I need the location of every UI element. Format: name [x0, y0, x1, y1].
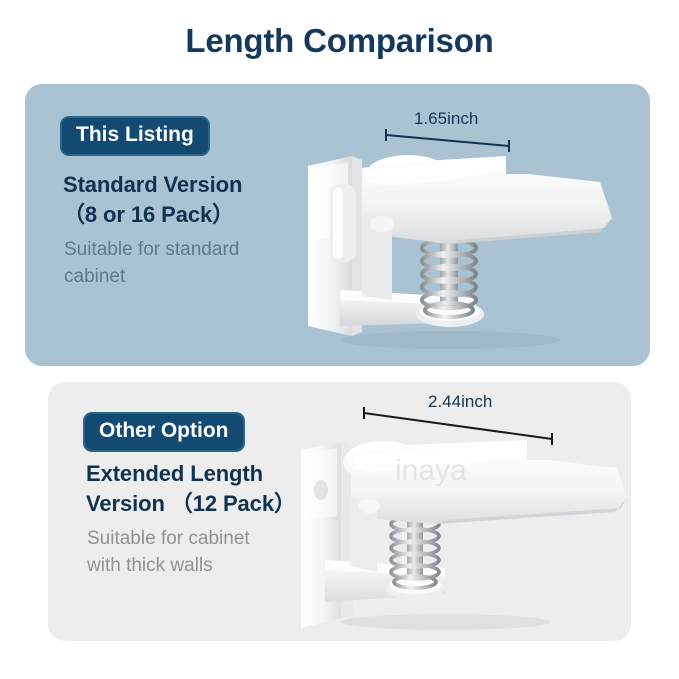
page-title: Length Comparison: [0, 22, 679, 60]
product-image-extended-latch: inaya: [295, 432, 640, 632]
headline-other-option: Extended Length Version （12 Pack）: [86, 459, 336, 519]
subtext-other-option: Suitable for cabinet with thick walls: [87, 525, 332, 579]
brand-emboss-text: inaya: [395, 454, 467, 487]
product-image-standard-latch: [300, 140, 630, 355]
badge-this-listing: This Listing: [60, 116, 210, 156]
headline-this-listing: Standard Version （8 or 16 Pack）: [63, 170, 313, 230]
dimension-label-2-44inch: 2.44inch: [428, 392, 492, 412]
subtext-this-listing: Suitable for standard cabinet: [64, 236, 299, 290]
dimension-label-1-65inch: 1.65inch: [414, 109, 478, 129]
badge-other-option: Other Option: [83, 412, 245, 452]
